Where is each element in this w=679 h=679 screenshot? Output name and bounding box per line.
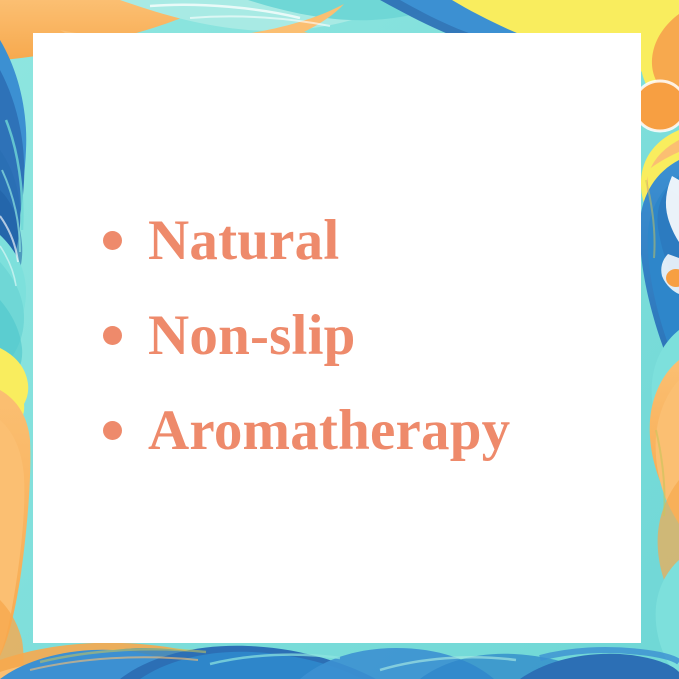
list-item: Natural [103, 193, 633, 288]
feature-bullet-list: Natural Non-slip Aromatherapy [103, 193, 633, 478]
white-content-card: Natural Non-slip Aromatherapy [33, 33, 641, 643]
product-feature-card-image: Natural Non-slip Aromatherapy [0, 0, 679, 679]
bullet-dot-icon [103, 421, 122, 440]
feature-label-non-slip: Non-slip [148, 307, 356, 364]
feature-label-natural: Natural [148, 212, 339, 269]
list-item: Non-slip [103, 288, 633, 383]
feature-label-aromatherapy: Aromatherapy [148, 402, 510, 459]
bullet-dot-icon [103, 326, 122, 345]
bullet-dot-icon [103, 231, 122, 250]
list-item: Aromatherapy [103, 383, 633, 478]
